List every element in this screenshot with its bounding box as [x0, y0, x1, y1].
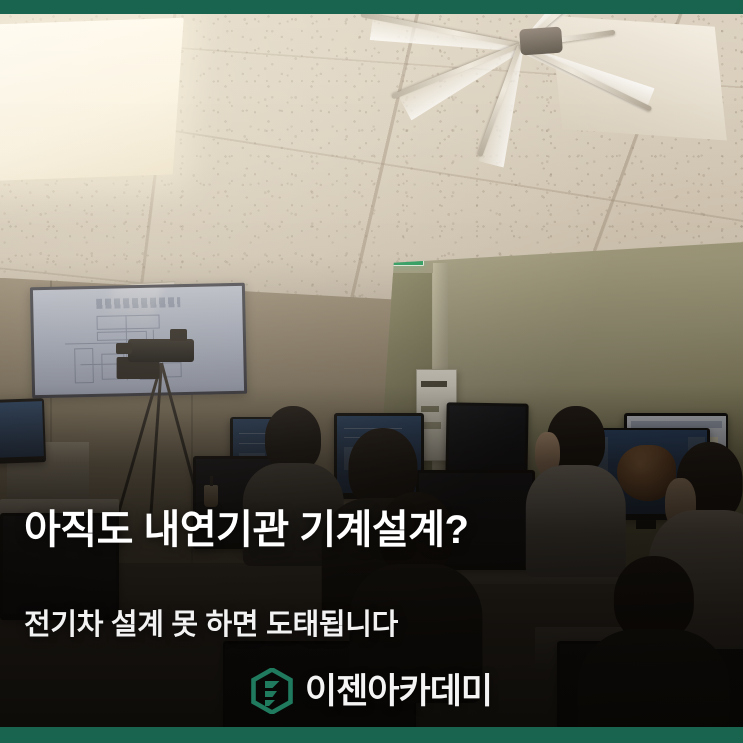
top-brand-bar: [0, 0, 743, 14]
promo-card: 아직도 내연기관 기계설계? 전기차 설계 못 하면 도태됩니다 이젠아카데미: [0, 0, 743, 743]
brand-name: 이젠아카데미: [305, 674, 492, 709]
bottom-brand-bar: [0, 727, 743, 743]
text-overlay: 아직도 내연기관 기계설계? 전기차 설계 못 하면 도태됩니다 이젠아카데미: [0, 0, 743, 743]
brand-lockup: 이젠아카데미: [0, 668, 743, 714]
subheadline: 전기차 설계 못 하면 도태됩니다: [24, 601, 398, 643]
headline: 아직도 내연기관 기계설계?: [24, 497, 468, 555]
ezen-hexagon-e-logo-icon: [251, 668, 293, 714]
